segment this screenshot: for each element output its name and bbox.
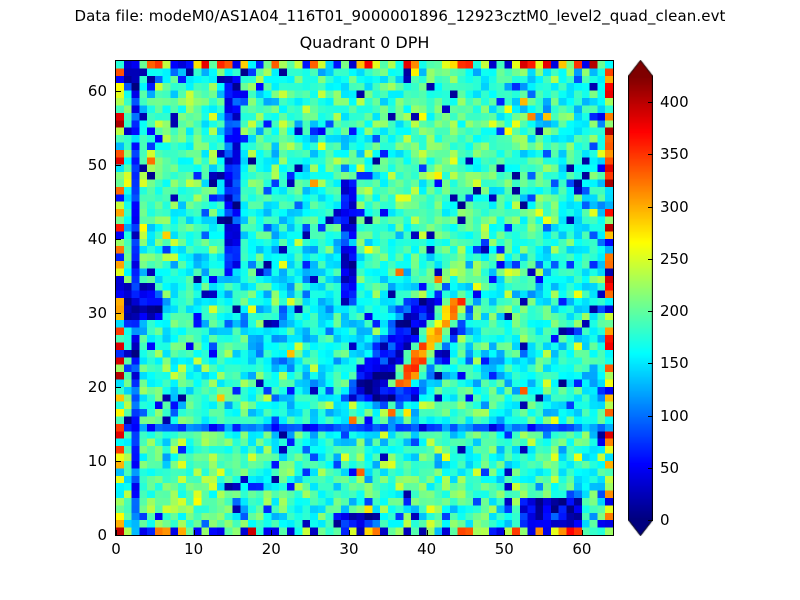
colorbar-tick-label: 250 bbox=[660, 251, 689, 267]
y-tick-label: 20 bbox=[63, 379, 107, 395]
figure-canvas: Data file: modeM0/AS1A04_116T01_90000018… bbox=[0, 0, 800, 600]
colorbar-gradient bbox=[628, 60, 653, 536]
colorbar-tick-label: 50 bbox=[660, 460, 679, 476]
x-tick-mark bbox=[194, 530, 195, 535]
y-tick-mark bbox=[116, 535, 121, 536]
x-tick-label: 50 bbox=[495, 541, 514, 557]
colorbar-tick-label: 200 bbox=[660, 303, 689, 319]
colorbar-tick-mark bbox=[648, 259, 653, 260]
colorbar-tick-label: 300 bbox=[660, 199, 689, 215]
y-tick-label: 10 bbox=[63, 453, 107, 469]
x-tick-mark bbox=[504, 530, 505, 535]
x-tick-mark bbox=[271, 530, 272, 535]
figure-suptitle: Data file: modeM0/AS1A04_116T01_90000018… bbox=[0, 7, 800, 25]
colorbar-tick-mark bbox=[648, 416, 653, 417]
x-tick-label: 60 bbox=[572, 541, 591, 557]
colorbar-tick-mark bbox=[648, 311, 653, 312]
y-tick-mark bbox=[116, 165, 121, 166]
heatmap-image bbox=[116, 61, 613, 535]
y-tick-label: 30 bbox=[63, 305, 107, 321]
colorbar-tick-mark bbox=[648, 520, 653, 521]
x-tick-label: 40 bbox=[417, 541, 436, 557]
y-tick-mark bbox=[116, 461, 121, 462]
x-tick-label: 20 bbox=[262, 541, 281, 557]
colorbar-tick-mark bbox=[648, 207, 653, 208]
x-tick-mark bbox=[427, 530, 428, 535]
y-tick-mark bbox=[116, 313, 121, 314]
colorbar-tick-mark bbox=[648, 154, 653, 155]
y-tick-label: 0 bbox=[63, 527, 107, 543]
colorbar-tick-label: 350 bbox=[660, 146, 689, 162]
colorbar-tick-mark bbox=[648, 363, 653, 364]
colorbar-tick-mark bbox=[648, 102, 653, 103]
axes-title: Quadrant 0 DPH bbox=[115, 33, 614, 53]
y-tick-mark bbox=[116, 91, 121, 92]
colorbar-tick-label: 400 bbox=[660, 94, 689, 110]
y-tick-label: 60 bbox=[63, 83, 107, 99]
colorbar-tick-label: 100 bbox=[660, 408, 689, 424]
colorbar-tick-label: 0 bbox=[660, 512, 670, 528]
x-tick-label: 30 bbox=[339, 541, 358, 557]
x-tick-mark bbox=[582, 530, 583, 535]
x-tick-mark bbox=[349, 530, 350, 535]
x-tick-label: 0 bbox=[111, 541, 121, 557]
x-tick-label: 10 bbox=[184, 541, 203, 557]
colorbar-tick-mark bbox=[648, 468, 653, 469]
heatmap-axes bbox=[115, 60, 614, 536]
y-tick-mark bbox=[116, 387, 121, 388]
y-tick-label: 40 bbox=[63, 231, 107, 247]
colorbar-tick-label: 150 bbox=[660, 355, 689, 371]
y-tick-mark bbox=[116, 239, 121, 240]
colorbar bbox=[628, 60, 653, 536]
y-tick-label: 50 bbox=[63, 157, 107, 173]
